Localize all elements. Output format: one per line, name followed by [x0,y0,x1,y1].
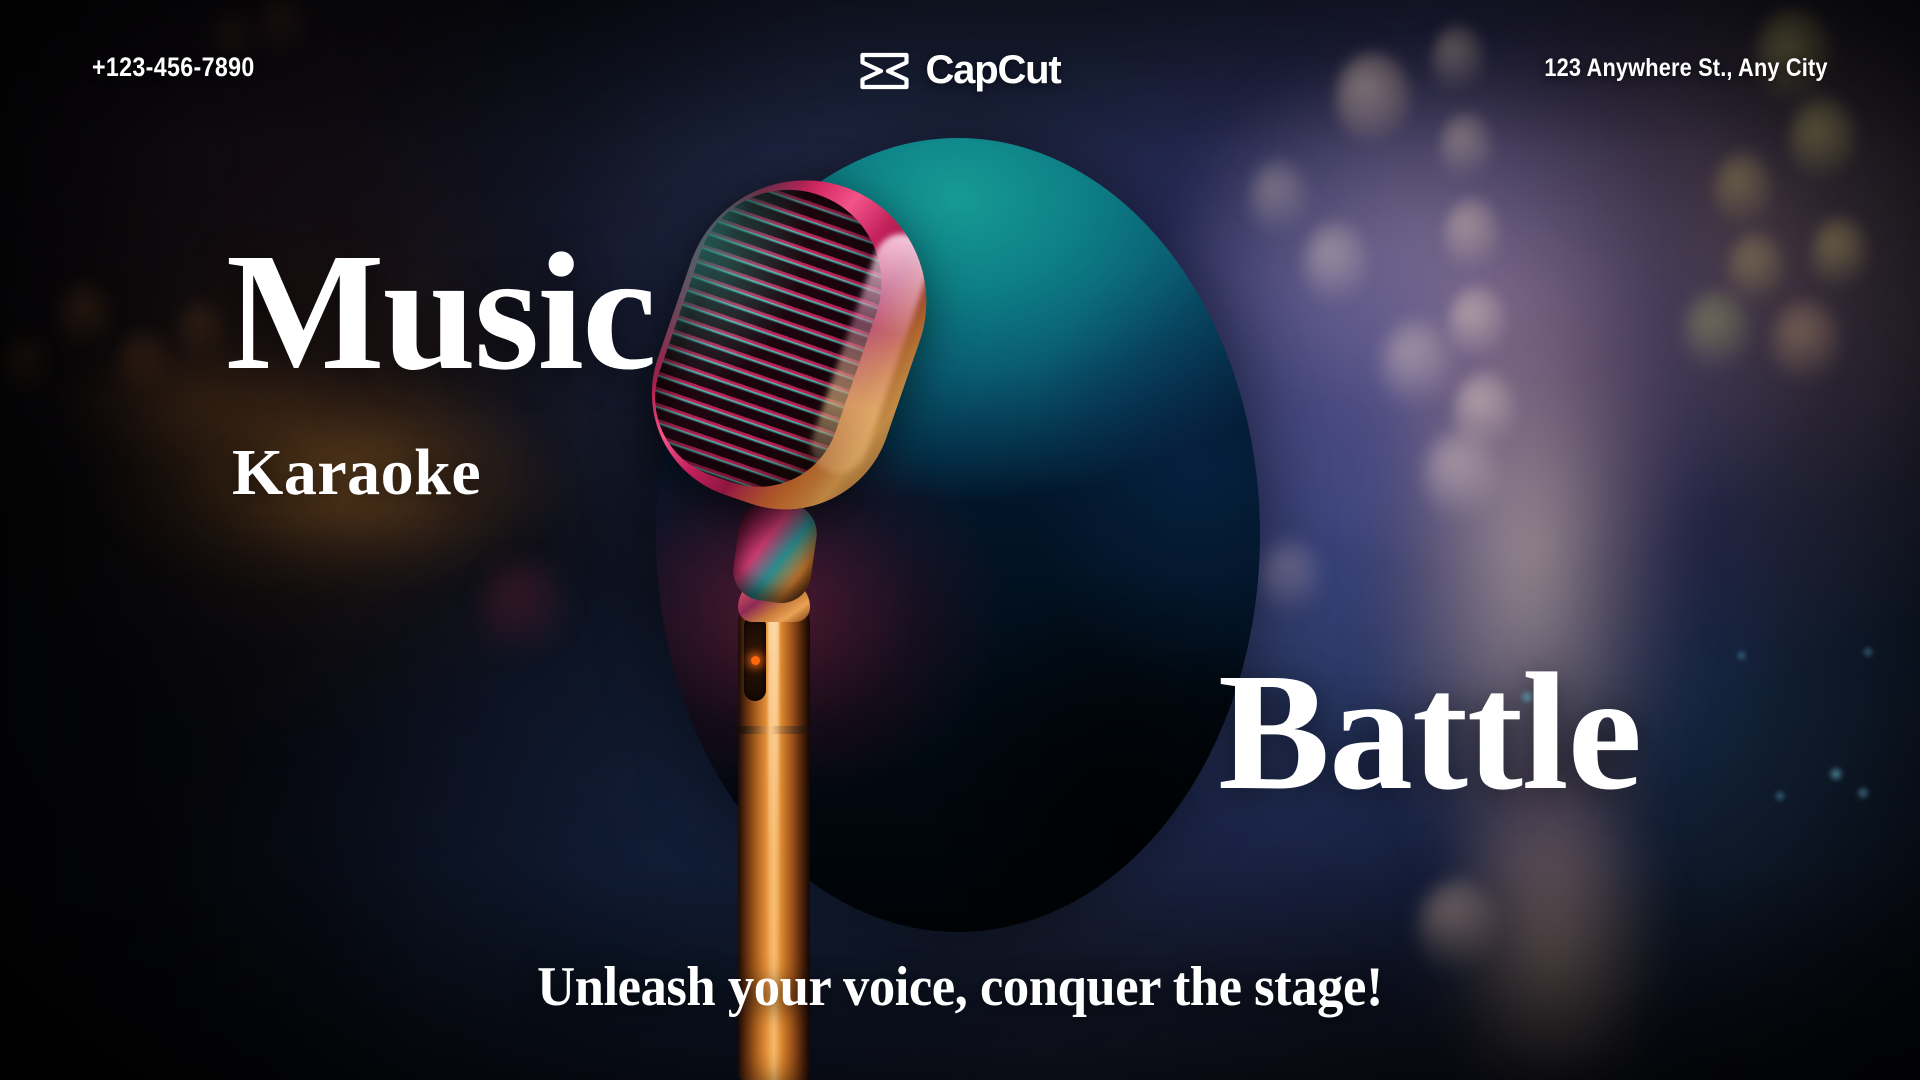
phone-number: +123-456-7890 [92,52,255,83]
headline-battle: Battle [1218,650,1641,815]
microphone-led-icon [751,656,760,665]
capcut-brand-name: CapCut [925,48,1060,93]
poster-canvas: +123-456-7890 CapCut 123 Anywhere St., A… [0,0,1920,1080]
capcut-logo-icon [859,51,909,91]
subheadline-karaoke: Karaoke [232,440,481,506]
vintage-microphone-icon [640,120,1280,1080]
street-address: 123 Anywhere St., Any City [1545,54,1828,83]
tagline: Unleash your voice, conquer the stage! [58,955,1863,1019]
capcut-brand: CapCut [859,48,1060,93]
microphone-ring [738,726,810,734]
poster-header: +123-456-7890 CapCut 123 Anywhere St., A… [0,0,1920,130]
microphone-head [623,148,959,539]
headline-music: Music [226,230,655,395]
microphone-edge-light [623,148,959,539]
